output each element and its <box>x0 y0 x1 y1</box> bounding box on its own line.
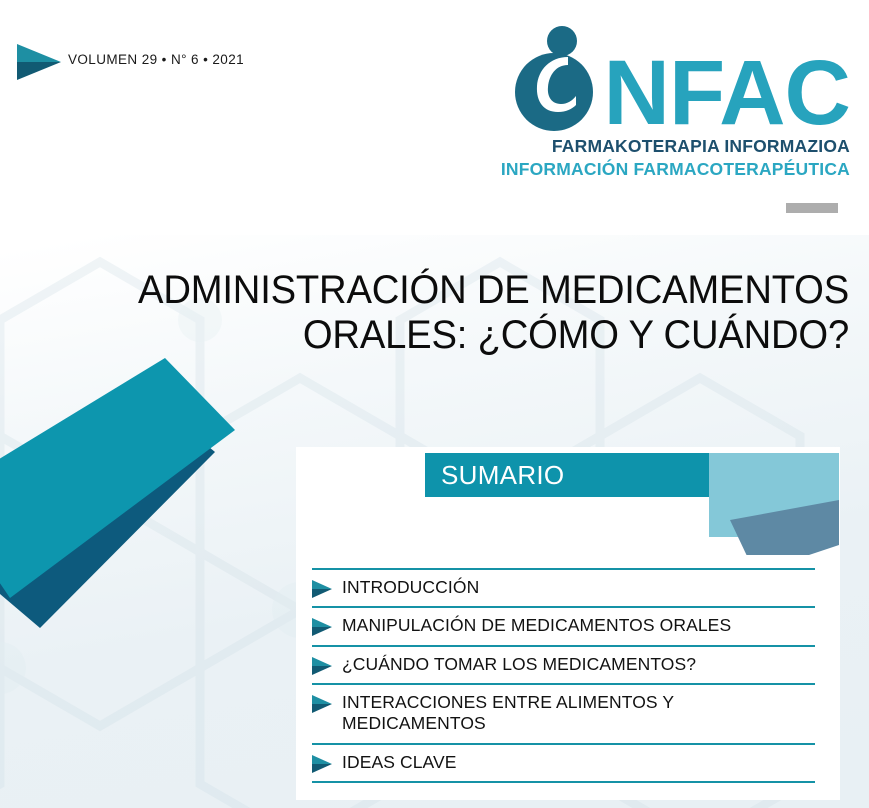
list-item-label: IDEAS CLAVE <box>342 752 815 773</box>
toc-divider <box>312 781 815 783</box>
slanted-bar-teal <box>0 358 235 598</box>
triangle-right-icon <box>312 615 342 636</box>
triangle-right-icon <box>17 44 61 85</box>
triangle-right-icon <box>312 577 342 598</box>
sumario-heading: SUMARIO <box>441 453 564 497</box>
parallelogram-decoration <box>700 445 869 555</box>
list-item-label: MANIPULACIÓN DE MEDICAMENTOS ORALES <box>342 615 815 636</box>
list-item[interactable]: ¿CUÁNDO TOMAR LOS MEDICAMENTOS? <box>312 647 815 683</box>
issue-line: VOLUMEN 29 • N° 6 • 2021 <box>68 52 244 67</box>
infac-i-icon <box>506 26 610 131</box>
sumario-banner: SUMARIO <box>425 453 709 497</box>
list-item-label: INTERACCIONES ENTRE ALIMENTOS Y MEDICAME… <box>342 692 815 735</box>
list-item[interactable]: INTRODUCCIÓN <box>312 570 815 606</box>
list-item-label: INTRODUCCIÓN <box>342 577 815 598</box>
cover-page: VOLUMEN 29 • N° 6 • 2021 NFAC FARMAKOTER… <box>0 0 869 808</box>
infac-wordmark: NFAC <box>604 56 850 131</box>
tagline-basque: FARMAKOTERAPIA INFORMAZIOA <box>490 136 850 157</box>
page-title-line-1: ADMINISTRACIÓN DE MEDICAMENTOS <box>85 268 849 313</box>
triangle-right-icon <box>312 752 342 773</box>
list-item[interactable]: MANIPULACIÓN DE MEDICAMENTOS ORALES <box>312 608 815 644</box>
slanted-bars-decoration <box>0 330 330 630</box>
infac-logo: NFAC FARMAKOTERAPIA INFORMAZIOA INFORMAC… <box>490 26 850 186</box>
triangle-right-icon <box>312 692 342 713</box>
gray-placeholder-bar <box>786 203 838 213</box>
list-item[interactable]: IDEAS CLAVE <box>312 745 815 781</box>
list-item-label: ¿CUÁNDO TOMAR LOS MEDICAMENTOS? <box>342 654 815 675</box>
triangle-right-icon <box>312 654 342 675</box>
list-item[interactable]: INTERACCIONES ENTRE ALIMENTOS Y MEDICAME… <box>312 685 815 743</box>
sumario-toc: INTRODUCCIÓN MANIPULACIÓN DE MEDICAMENTO… <box>312 568 815 783</box>
tagline-spanish: INFORMACIÓN FARMACOTERAPÉUTICA <box>490 159 850 180</box>
